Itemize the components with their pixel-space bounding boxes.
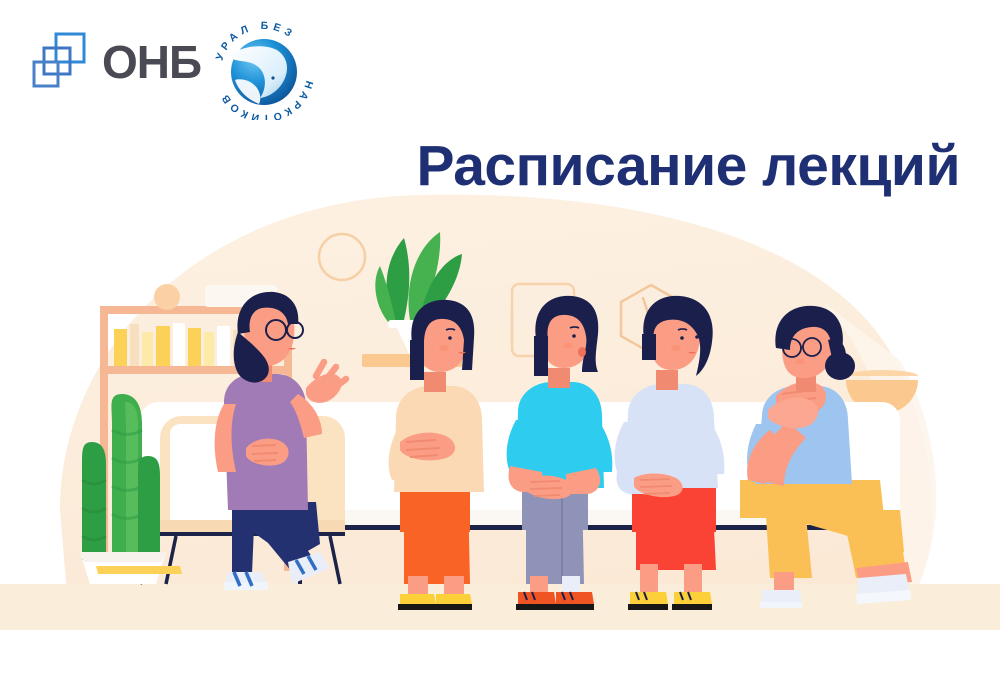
poster-canvas: ОНБ	[0, 0, 1000, 696]
header: ОНБ	[0, 0, 1000, 130]
onb-logo[interactable]: ОНБ	[32, 28, 192, 100]
floor	[0, 584, 1000, 630]
dolphin-in-circle-icon	[231, 39, 297, 105]
onb-logo-text: ОНБ	[102, 36, 201, 88]
lecture-audience-illustration	[0, 180, 1000, 640]
three-overlapping-squares-icon	[32, 32, 96, 94]
ural-bez-narkotikov-logo[interactable]: УРАЛ БЕЗ НАРКОТИКОВ	[205, 16, 323, 120]
shelf-ball-decor	[154, 284, 180, 310]
